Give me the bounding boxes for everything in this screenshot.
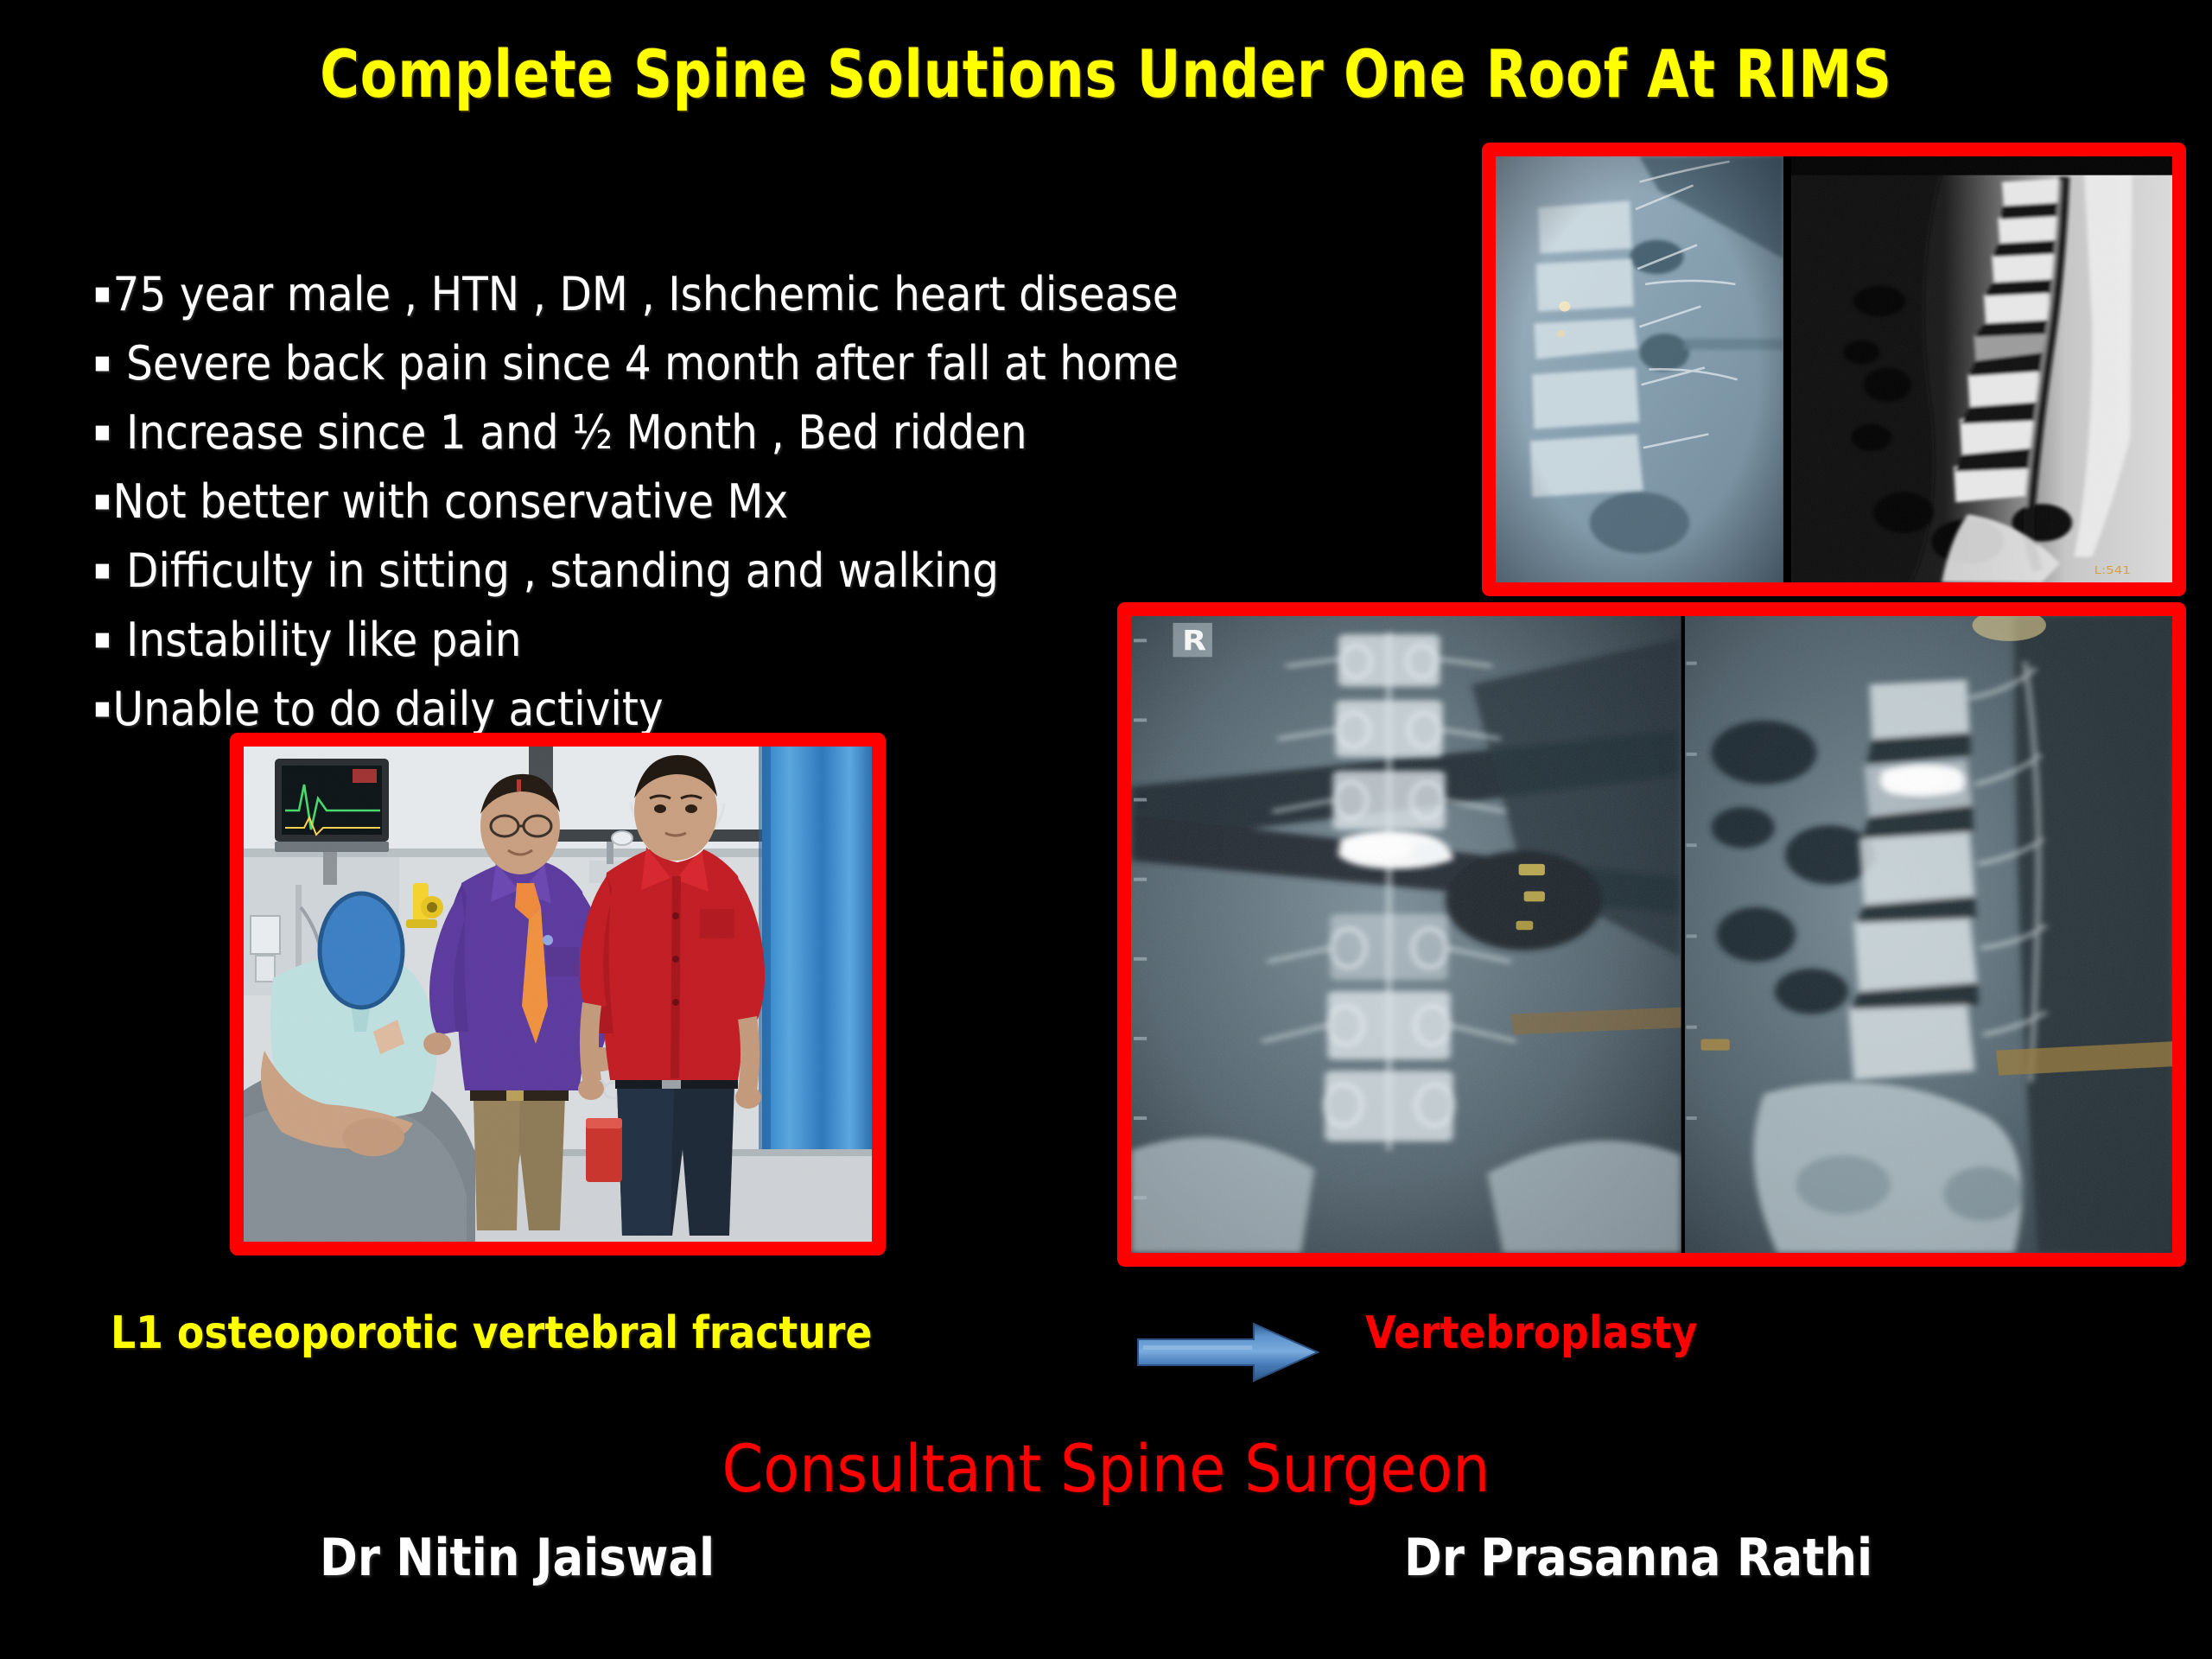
bullet-square-icon: ▪ xyxy=(93,605,111,673)
panel-inner: R xyxy=(1131,616,2172,1253)
intraoperative-fluoroscopy-panel: R xyxy=(1117,602,2186,1267)
fluoroscopy-lateral-view xyxy=(1685,616,2172,1253)
bullet-square-icon: ▪ xyxy=(93,674,111,742)
fluoroscopy-ap-view: R xyxy=(1131,616,1681,1253)
sagittal-lumbar-mri: L:541 xyxy=(1791,156,2172,582)
list-item: ▪75 year male , HTN , DM , Ishchemic hea… xyxy=(93,259,1353,328)
bullet-square-icon: ▪ xyxy=(93,536,111,604)
panel-inner: L:541 xyxy=(1496,156,2172,582)
list-item-label: Unable to do daily activity xyxy=(113,682,664,736)
page-title: Complete Spine Solutions Under One Roof … xyxy=(199,41,2012,107)
footer-doctor-name-left: Dr Nitin Jaiswal xyxy=(320,1528,715,1588)
bullet-square-icon: ▪ xyxy=(93,397,111,466)
panel-inner xyxy=(244,747,872,1242)
list-item-label: Instability like pain xyxy=(113,613,522,667)
footer-role-title: Consultant Spine Surgeon xyxy=(111,1430,2101,1507)
list-item-label: 75 year male , HTN , DM , Ishchemic hear… xyxy=(113,267,1179,321)
list-item-label: Severe back pain since 4 month after fal… xyxy=(113,336,1179,391)
list-item: ▪ Severe back pain since 4 month after f… xyxy=(93,328,1353,397)
list-item: ▪Not better with conservative Mx xyxy=(93,467,1353,536)
patient-with-surgeons-photo xyxy=(244,747,872,1242)
right-arrow-icon xyxy=(1136,1320,1319,1384)
treatment-caption: Vertebroplasty xyxy=(1365,1307,1697,1359)
bullet-square-icon: ▪ xyxy=(93,328,111,397)
list-item: ▪ Difficulty in sitting , standing and w… xyxy=(93,536,1353,605)
mri-slice-label: L:541 xyxy=(2094,564,2130,577)
list-item: ▪ Increase since 1 and ½ Month , Bed rid… xyxy=(93,397,1353,467)
postoperative-clinical-photo xyxy=(230,733,886,1255)
bullet-square-icon: ▪ xyxy=(93,467,111,535)
diagnosis-caption: L1 osteoporotic vertebral fracture xyxy=(111,1307,872,1359)
bullet-square-icon: ▪ xyxy=(93,259,111,327)
list-item-label: Increase since 1 and ½ Month , Bed ridde… xyxy=(113,405,1027,460)
preoperative-imaging-panel: L:541 xyxy=(1482,143,2186,596)
list-item-label: Not better with conservative Mx xyxy=(113,474,789,529)
lateral-lumbar-xray xyxy=(1496,156,1783,582)
footer-doctor-name-right: Dr Prasanna Rathi xyxy=(1404,1528,1872,1588)
list-item-label: Difficulty in sitting , standing and wal… xyxy=(113,543,999,598)
